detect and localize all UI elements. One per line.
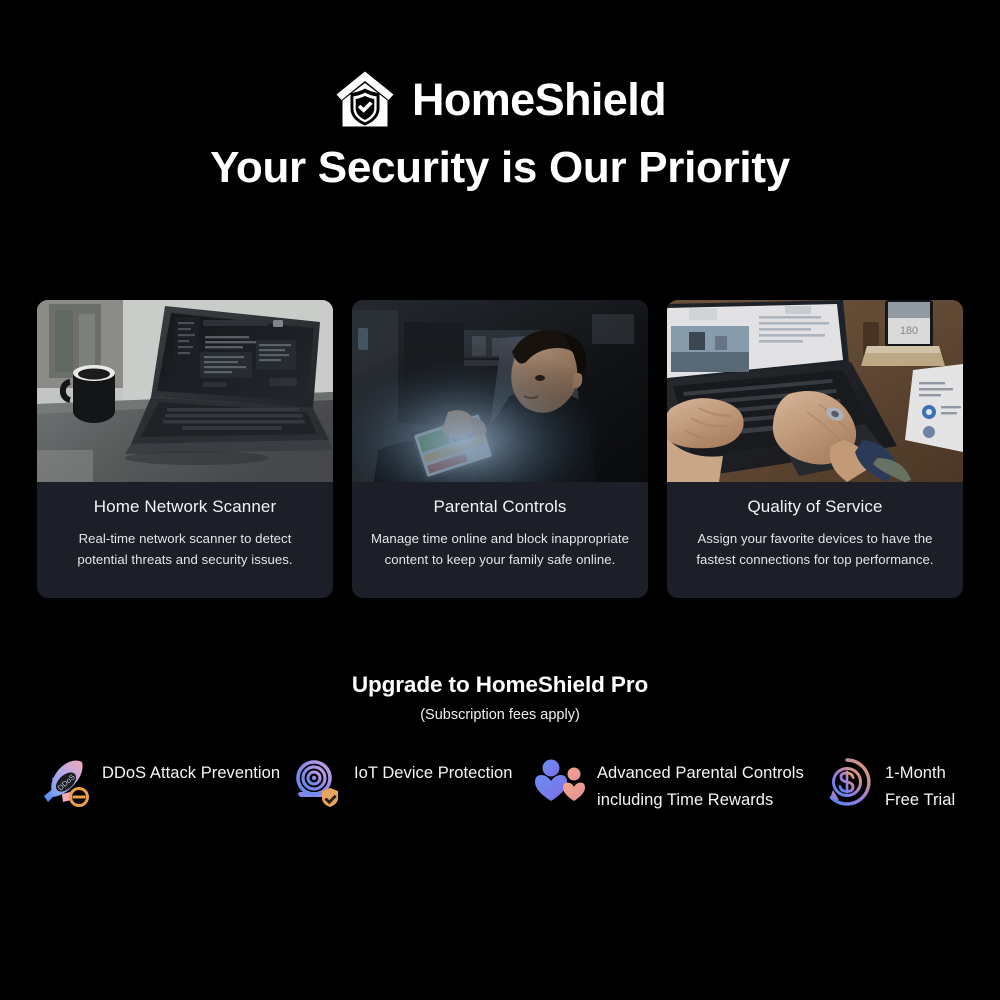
pro-feature-item: 1-Month Free Trial xyxy=(821,756,962,813)
pro-feature-list: DDoS DDoS Attack Prevention xyxy=(38,756,962,813)
page-tagline: Your Security is Our Priority xyxy=(0,144,1000,192)
feature-card-list: Home Network Scanner Real-time network s… xyxy=(37,300,963,598)
pro-feature-item: Advanced Parental Controls including Tim… xyxy=(533,756,821,813)
child-with-tablet-photo xyxy=(352,300,648,482)
parent-child-hearts-icon xyxy=(533,756,585,808)
feature-card-title: Home Network Scanner xyxy=(53,496,317,518)
pro-feature-label: Advanced Parental Controls including Tim… xyxy=(597,756,821,813)
feature-card[interactable]: Home Network Scanner Real-time network s… xyxy=(37,300,333,598)
feature-card-body: Parental Controls Manage time online and… xyxy=(352,482,648,598)
pro-feature-item: IoT Device Protection xyxy=(290,756,533,813)
camera-shield-check-icon xyxy=(290,756,342,808)
pro-feature-item: DDoS DDoS Attack Prevention xyxy=(38,756,290,813)
upgrade-section: Upgrade to HomeShield Pro (Subscription … xyxy=(0,672,1000,723)
feature-card-title: Parental Controls xyxy=(368,496,632,518)
feature-card-description: Manage time online and block inappropria… xyxy=(368,528,632,571)
hands-typing-laptop-photo: 180 xyxy=(667,300,963,482)
homeshield-promo-page: HomeShield Your Security is Our Priority xyxy=(0,0,1000,1000)
brand-name: HomeShield xyxy=(412,77,666,122)
pro-feature-label: DDoS Attack Prevention xyxy=(102,756,280,787)
upgrade-subtitle: (Subscription fees apply) xyxy=(0,707,1000,723)
home-shield-check-icon xyxy=(334,69,396,129)
pro-feature-label: 1-Month Free Trial xyxy=(885,756,962,813)
dollar-refresh-circle-icon xyxy=(821,756,873,808)
rocket-ddos-blocked-icon: DDoS xyxy=(38,756,90,808)
feature-card[interactable]: Parental Controls Manage time online and… xyxy=(352,300,648,598)
feature-card-body: Quality of Service Assign your favorite … xyxy=(667,482,963,598)
feature-card-title: Quality of Service xyxy=(683,496,947,518)
feature-card-description: Assign your favorite devices to have the… xyxy=(683,528,947,571)
feature-card[interactable]: 180 xyxy=(667,300,963,598)
feature-card-body: Home Network Scanner Real-time network s… xyxy=(37,482,333,598)
upgrade-title: Upgrade to HomeShield Pro xyxy=(0,672,1000,698)
brand-row: HomeShield xyxy=(0,68,1000,130)
feature-card-description: Real-time network scanner to detect pote… xyxy=(53,528,317,571)
laptop-on-desk-photo xyxy=(37,300,333,482)
page-header: HomeShield Your Security is Our Priority xyxy=(0,0,1000,192)
pro-feature-label: IoT Device Protection xyxy=(354,756,513,787)
